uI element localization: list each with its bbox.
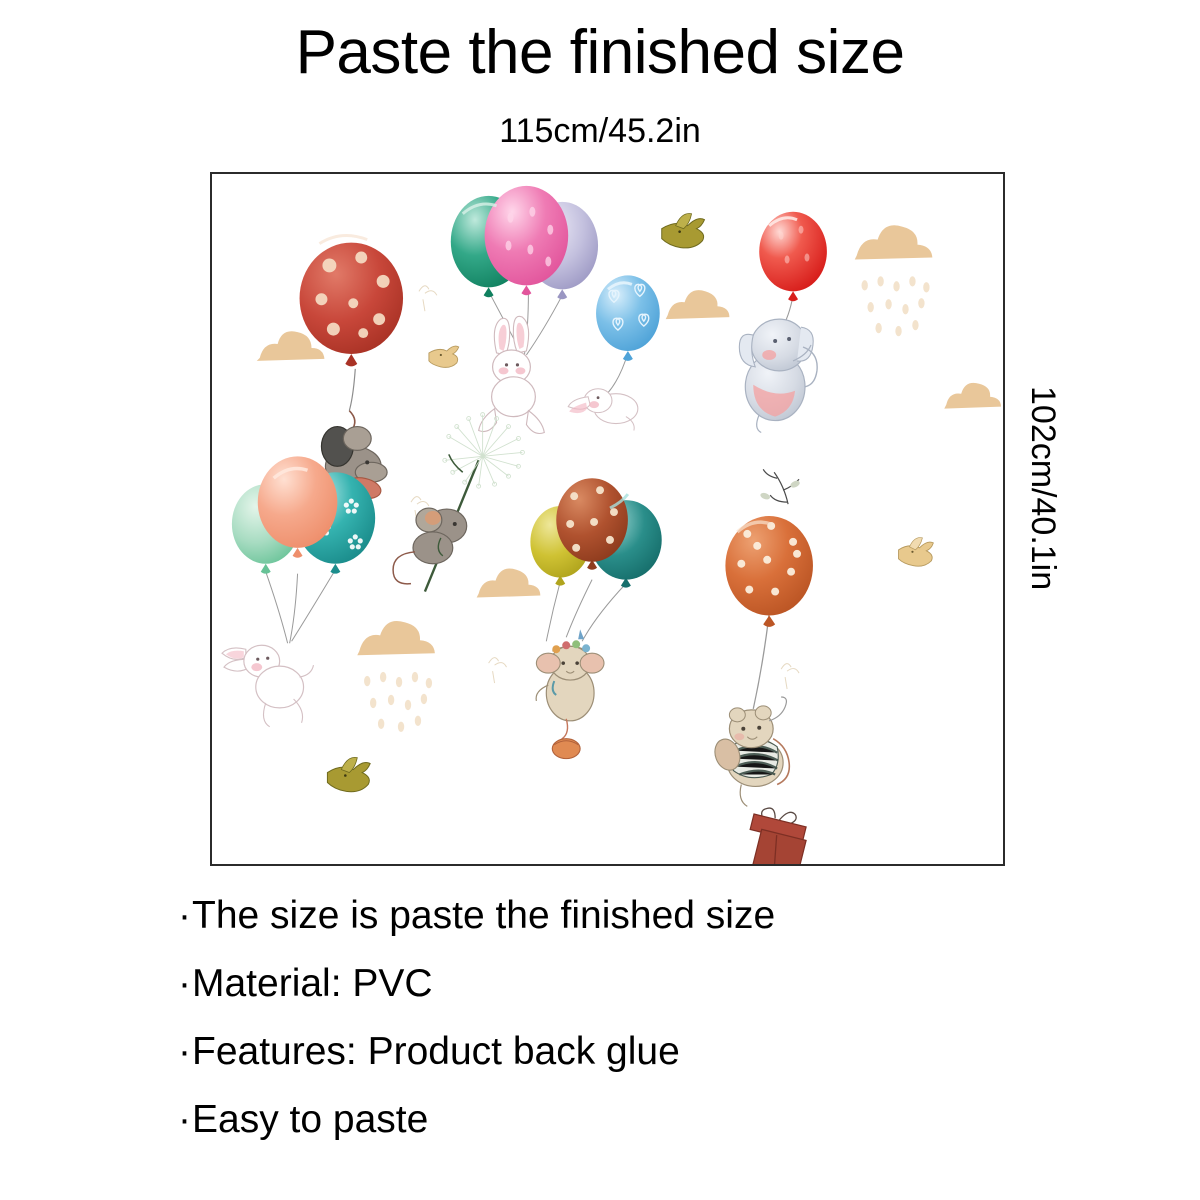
product-detail-list: ·The size is paste the finished size ·Ma… [178,882,1078,1154]
mouse-with-flower-crown [530,478,661,758]
page-title: Paste the finished size [0,22,1200,84]
mouse-on-dandelion [393,413,524,592]
artwork-frame [210,172,1005,866]
bullet-marker: · [178,1030,191,1073]
bullet-text: Material: PVC [192,962,433,1005]
list-item: ·Material: PVC [178,950,1078,1018]
list-item: ·Easy to paste [178,1086,1078,1154]
bullet-text: The size is paste the finished size [192,894,775,937]
list-item: ·The size is paste the finished size [178,882,1078,950]
list-item: ·Features: Product back glue [178,1018,1078,1086]
bullet-marker: · [178,962,191,1005]
width-dimension-label: 115cm/45.2in [0,112,1200,151]
rain-cloud-icon [855,225,933,336]
pastel-balloon-trio-with-bunny [222,456,375,726]
bird-icon [429,346,459,367]
cloud-icon [666,290,730,319]
wall-sticker-illustration [212,174,1003,864]
bird-icon [327,757,370,791]
balloon-trio-with-bunny [451,186,598,434]
cloud-icon [944,383,1001,409]
bullet-marker: · [178,894,191,937]
red-balloon-with-elephant [739,212,827,433]
bullet-text: Easy to paste [192,1098,428,1141]
rain-cloud-icon [357,621,435,732]
bullet-text: Features: Product back glue [192,1030,680,1073]
bird-icon [662,214,705,248]
cloud-icon [477,569,541,598]
mouse-with-gift-box [711,516,813,864]
bird-icon [899,538,934,567]
height-dimension-label: 102cm/40.1in [1023,386,1062,686]
blue-heart-balloon-with-bunny [568,275,660,430]
bullet-marker: · [178,1098,191,1141]
dark-sprig-icon [760,469,801,504]
